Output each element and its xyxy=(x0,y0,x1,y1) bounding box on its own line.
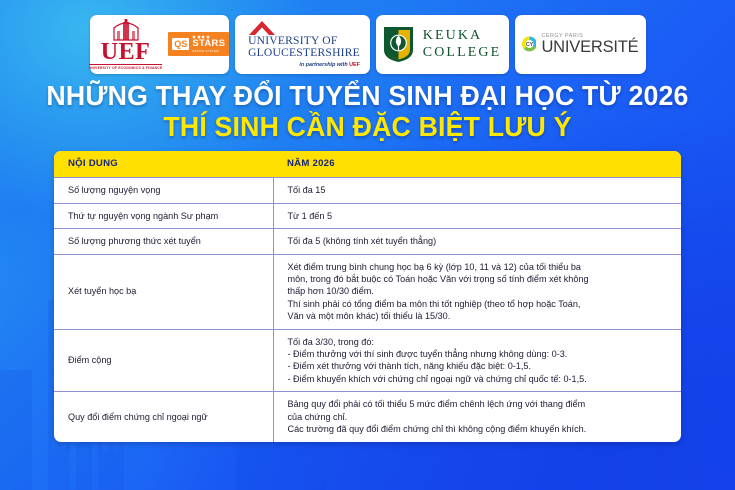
row-value-line: - Điểm xét thưởng với thành tích, năng k… xyxy=(288,360,672,372)
row-label-cell: Số lượng phương thức xét tuyển xyxy=(54,229,273,254)
keuka-line1: KEUKA xyxy=(423,27,501,44)
logo-cy-cergy-paris-universite: CY CERGY PARIS UNIVERSITÉ xyxy=(515,15,646,74)
qs-mark: QS xyxy=(172,38,189,50)
column-header-noi-dung: NỘI DUNG xyxy=(54,151,273,178)
row-value-line: Bảng quy đổi phải có tối thiểu 5 mức điể… xyxy=(288,398,672,410)
table-row: Thứ tự nguyện vọng ngành Sư phạmTừ 1 đến… xyxy=(54,203,681,228)
row-value-cell: Tối đa 5 (không tính xét tuyển thẳng) xyxy=(273,229,681,254)
row-value-cell: Bảng quy đổi phải có tối thiểu 5 mức điể… xyxy=(273,392,681,442)
keuka-wordmark: KEUKA COLLEGE xyxy=(423,27,501,61)
keuka-shield-crest-icon xyxy=(383,26,414,63)
table-row: Số lượng nguyện vọngTối đa 15 xyxy=(54,178,681,203)
svg-text:CY: CY xyxy=(525,42,533,48)
row-value-line: Các trường đã quy đổi điểm chứng chỉ thì… xyxy=(288,423,672,435)
table-head: NỘI DUNG NĂM 2026 xyxy=(54,151,681,178)
partner-logo-strip: UEF UNIVERSITY OF ECONOMICS & FINANCE QS… xyxy=(0,14,735,74)
uef-lockup: UEF UNIVERSITY OF ECONOMICS & FINANCE xyxy=(89,18,163,70)
row-value-line: môn, trong đó bắt buộc có Toán hoặc Văn … xyxy=(288,273,672,285)
headline-line-2: THÍ SINH CẦN ĐẶC BIỆT LƯU Ý xyxy=(11,111,724,142)
cy-wordmark: CERGY PARIS UNIVERSITÉ xyxy=(541,33,638,56)
table-row: Quy đổi điểm chứng chỉ ngoại ngữBảng quy… xyxy=(54,392,681,442)
row-value-line: Xét điểm trung bình chung học bạ 6 kỳ (l… xyxy=(288,261,672,273)
row-label-cell: Thứ tự nguyện vọng ngành Sư phạm xyxy=(54,203,273,228)
row-value-cell: Tối đa 3/30, trong đó:- Điểm thưởng với … xyxy=(273,329,681,392)
uef-subtitle: UNIVERSITY OF ECONOMICS & FINANCE xyxy=(89,64,163,70)
gloucestershire-lockup: UNIVERSITY OF GLOUCESTERSHIRE in partner… xyxy=(244,21,360,68)
row-value-cell: Xét điểm trung bình chung học bạ 6 kỳ (l… xyxy=(273,254,681,329)
headline-line-1: NHỮNG THAY ĐỔI TUYỂN SINH ĐẠI HỌC TỪ 202… xyxy=(11,80,724,111)
headline-block: NHỮNG THAY ĐỔI TUYỂN SINH ĐẠI HỌC TỪ 202… xyxy=(0,80,735,142)
table-row: Điểm cộngTối đa 3/30, trong đó:- Điểm th… xyxy=(54,329,681,392)
logo-keuka-college: KEUKA COLLEGE xyxy=(376,15,509,74)
gloucestershire-line2: GLOUCESTERSHIRE xyxy=(248,47,360,60)
admissions-changes-table: NỘI DUNG NĂM 2026 Số lượng nguyện vọngTố… xyxy=(54,151,681,442)
column-header-nam-2026: NĂM 2026 xyxy=(273,151,681,178)
row-value-line: của chứng chỉ. xyxy=(288,411,672,423)
chevron-roof-icon xyxy=(249,21,275,35)
table-header-row: NỘI DUNG NĂM 2026 xyxy=(54,151,681,178)
qs-stars-badge: QS STARS RATING SYSTEM xyxy=(168,32,229,56)
row-value-line: - Điểm khuyến khích với chứng chỉ ngoại … xyxy=(288,373,672,385)
row-value-cell: Tối đa 15 xyxy=(273,178,681,203)
row-value-cell: Từ 1 đến 5 xyxy=(273,203,681,228)
row-value-line: Văn và một môn khác) tối thiểu là 15/30. xyxy=(288,310,672,322)
qs-rating-system-label: RATING SYSTEM xyxy=(192,49,219,53)
keuka-line2: COLLEGE xyxy=(423,44,501,61)
row-value-line: Tối đa 3/30, trong đó: xyxy=(288,336,672,348)
gloucestershire-partner-note: in partnership with UEF xyxy=(299,62,360,68)
cy-universite-label: UNIVERSITÉ xyxy=(541,39,638,56)
logo-university-of-gloucestershire: UNIVERSITY OF GLOUCESTERSHIRE in partner… xyxy=(235,15,370,74)
logo-uef: UEF UNIVERSITY OF ECONOMICS & FINANCE QS… xyxy=(90,15,229,74)
row-value-line: Thí sinh phải có tổng điểm ba môn thi tố… xyxy=(288,298,672,310)
table-row: Số lượng phương thức xét tuyểnTối đa 5 (… xyxy=(54,229,681,254)
row-label-cell: Số lượng nguyện vọng xyxy=(54,178,273,203)
qs-word: STARS xyxy=(192,39,225,49)
cy-circle-icon: CY xyxy=(522,26,537,62)
row-value-line: Tối đa 5 (không tính xét tuyển thẳng) xyxy=(288,235,672,247)
row-value-line: - Điểm thưởng với thí sinh được tuyển th… xyxy=(288,348,672,360)
row-label-cell: Xét tuyển học bạ xyxy=(54,254,273,329)
table-row: Xét tuyển học bạXét điểm trung bình chun… xyxy=(54,254,681,329)
uef-wordmark: UEF xyxy=(101,41,151,63)
row-value-line: Từ 1 đến 5 xyxy=(288,210,672,222)
table-body: Số lượng nguyện vọngTối đa 15Thứ tự nguy… xyxy=(54,178,681,442)
row-value-line: Tối đa 15 xyxy=(288,184,672,196)
row-label-cell: Quy đổi điểm chứng chỉ ngoại ngữ xyxy=(54,392,273,442)
row-label-cell: Điểm cộng xyxy=(54,329,273,392)
row-value-line: thấp hơn 10/30 điểm. xyxy=(288,285,672,297)
partner-prefix: in partnership with xyxy=(299,62,349,68)
partner-brand: UEF xyxy=(349,62,360,68)
admissions-changes-table-card: NỘI DUNG NĂM 2026 Số lượng nguyện vọngTố… xyxy=(54,151,681,442)
qs-badge-text: STARS RATING SYSTEM xyxy=(192,35,225,53)
